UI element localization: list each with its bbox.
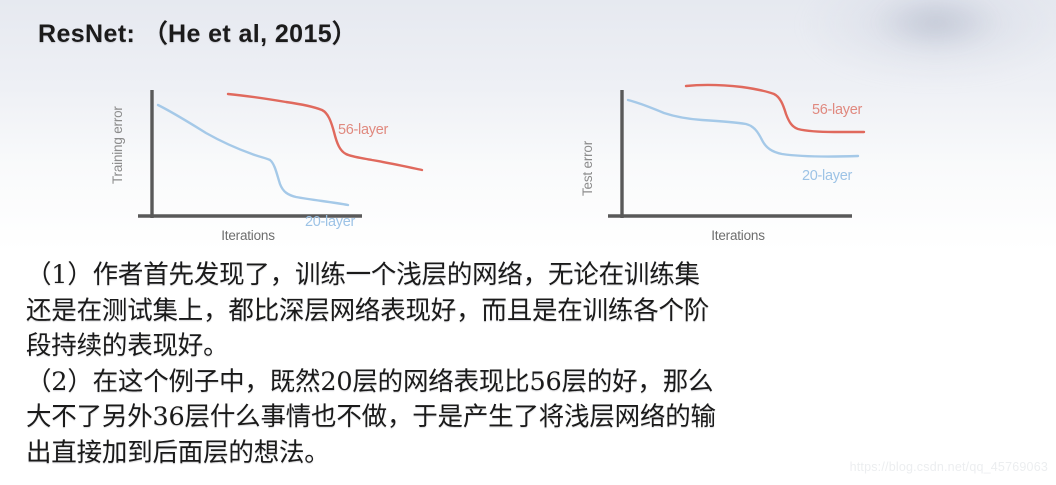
series-line-56-layer [228, 94, 422, 170]
background-glow-decoration [806, 0, 1056, 80]
paragraph-1: （1）作者首先发现了，训练一个浅层的网络，无论在训练集 还是在测试集上，都比深层… [26, 258, 1038, 365]
page-title: ResNet: （He et al, 2015） [38, 14, 357, 50]
paragraph-2-line-2: 大不了另外36层什么事情也不做，于是产生了将浅层网络的输 [26, 400, 1038, 436]
paragraph-2-line-3: 出直接加到后面层的想法。 [26, 436, 1038, 472]
x-axis-label: Iterations [711, 228, 765, 243]
y-axis-label: Training error [110, 106, 125, 184]
x-axis-label: Iterations [221, 228, 275, 243]
slide-canvas: ResNet: （He et al, 2015） 56-layer 20-lay… [0, 0, 1056, 485]
paragraph-1-line-1: （1）作者首先发现了，训练一个浅层的网络，无论在训练集 [26, 258, 1038, 294]
paragraph-1-line-2: 还是在测试集上，都比深层网络表现好，而且是在训练各个阶 [26, 294, 1038, 330]
paragraph-2: （2）在这个例子中，既然20层的网络表现比56层的好，那么 大不了另外36层什么… [26, 365, 1038, 472]
y-axis-label: Test error [580, 140, 595, 196]
series-line-20-layer [158, 105, 348, 205]
series-label-20-layer: 20-layer [802, 168, 852, 184]
body-text: （1）作者首先发现了，训练一个浅层的网络，无论在训练集 还是在测试集上，都比深层… [26, 258, 1038, 471]
series-label-56-layer: 56-layer [812, 102, 862, 118]
training-error-chart: 56-layer 20-layer Training error Iterati… [100, 72, 460, 252]
paragraph-2-line-1: （2）在这个例子中，既然20层的网络表现比56层的好，那么 [26, 365, 1038, 401]
figures-row: 56-layer 20-layer Training error Iterati… [0, 72, 1056, 252]
paragraph-1-line-3: 段持续的表现好。 [26, 329, 1038, 365]
series-label-20-layer: 20-layer [305, 214, 355, 230]
series-label-56-layer: 56-layer [338, 122, 388, 138]
background-glow-decoration-secondary [876, 0, 996, 50]
test-error-chart: 56-layer 20-layer Test error Iterations [570, 72, 930, 252]
